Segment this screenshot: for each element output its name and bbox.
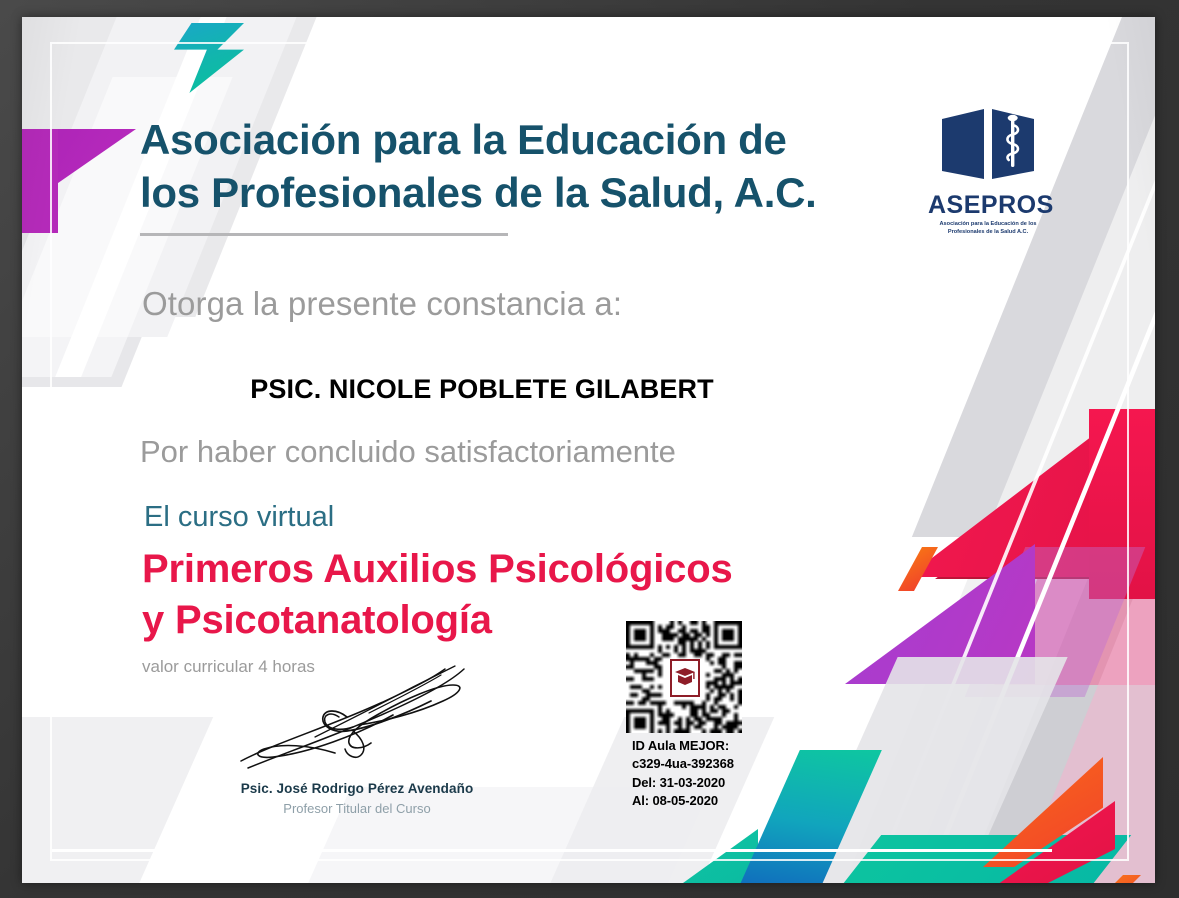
id-label: ID Aula MEJOR: <box>632 737 734 755</box>
signer-role: Profesor Titular del Curso <box>207 801 507 816</box>
completion-line: Por haber concluido satisfactoriamente <box>140 434 676 470</box>
handwritten-signature-icon <box>217 657 497 779</box>
award-line: Otorga la presente constancia a: <box>142 285 622 323</box>
certificate-content: Asociación para la Educación de los Prof… <box>22 17 1155 883</box>
certificate-frame: Asociación para la Educación de los Prof… <box>0 0 1179 898</box>
course-title-line-1: Primeros Auxilios Psicológicos <box>142 544 842 595</box>
title-divider-rule <box>140 233 508 236</box>
date-to: Al: 08-05-2020 <box>632 792 734 810</box>
signature-block: Psic. José Rodrigo Pérez Avendaño Profes… <box>207 657 507 816</box>
logo-subtitle: Asociación para la Educación de los Prof… <box>928 220 1048 237</box>
logo-subtitle-line-1: Asociación para la Educación de los <box>928 220 1048 228</box>
verification-id-block: ID Aula MEJOR: c329-4ua-392368 Del: 31-0… <box>632 737 734 811</box>
organization-title-line-1: Asociación para la Educación de <box>140 114 910 167</box>
id-value: c329-4ua-392368 <box>632 755 734 773</box>
date-from: Del: 31-03-2020 <box>632 774 734 792</box>
organization-title-line-2: los Profesionales de la Salud, A.C. <box>140 167 910 220</box>
graduation-book-icon <box>670 659 700 697</box>
logo-subtitle-line-2: Profesionales de la Salud A.C. <box>928 228 1048 236</box>
graduation-book-glyph <box>674 666 696 690</box>
recipient-name: PSIC. NICOLE POBLETE GILABERT <box>142 374 822 405</box>
course-kind-label: El curso virtual <box>144 501 334 534</box>
open-book-caduceus-icon <box>936 105 1040 191</box>
certificate-sheet: Asociación para la Educación de los Prof… <box>22 17 1155 883</box>
qr-code[interactable] <box>626 621 742 733</box>
asepros-logo: ASEPROS Asociación para la Educación de … <box>928 105 1048 235</box>
signer-name: Psic. José Rodrigo Pérez Avendaño <box>207 781 507 796</box>
organization-title: Asociación para la Educación de los Prof… <box>140 114 910 220</box>
logo-wordmark: ASEPROS <box>928 193 1048 218</box>
